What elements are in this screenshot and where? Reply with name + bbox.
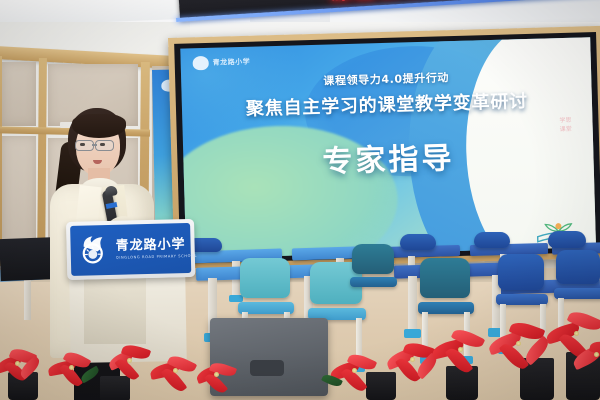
school-logo-icon	[193, 56, 209, 70]
podium-sign: 青龙路小学 QINGLONG ROAD PRIMARY SCHOOL	[66, 219, 195, 280]
slide-logo-text: 青龙路小学	[213, 57, 251, 68]
desk-foot	[229, 295, 243, 302]
slide-side-text: 学思课堂	[558, 116, 572, 134]
screen-bezel: 青龙路小学 课程领导力4.0提升行动 聚焦自主学习的课堂教学变革研讨 专家指导 …	[174, 32, 600, 264]
slide-school-logo: 青龙路小学	[193, 55, 251, 71]
table-leg	[24, 278, 31, 320]
photograph-scene: 课程领导力4.0提升行动 青龙路小学 课程领导力4.0提升行动 聚焦自主学习的课…	[0, 0, 600, 400]
podium-cloth	[84, 278, 146, 344]
desk-foot	[404, 329, 421, 338]
presenter-fringe	[72, 114, 126, 138]
equipment-case-handle	[250, 360, 284, 376]
eyeglasses-bridge	[92, 144, 97, 146]
equipment-case	[210, 318, 328, 396]
podium-school-name-en: QINGLONG ROAD PRIMARY SCHOOL	[116, 254, 197, 260]
flower-pot	[366, 372, 396, 400]
desk-leg	[408, 276, 417, 332]
eyeglasses-icon	[95, 140, 114, 151]
presentation-slide: 青龙路小学 课程领导力4.0提升行动 聚焦自主学习的课堂教学变革研讨 专家指导 …	[180, 37, 596, 258]
school-logo-icon	[77, 233, 110, 268]
flower-pot	[100, 376, 130, 400]
podium-sign-face: 青龙路小学 QINGLONG ROAD PRIMARY SCHOOL	[70, 223, 191, 276]
wall-panel	[2, 62, 36, 126]
podium-school-name-cn: 青龙路小学	[115, 238, 196, 254]
projection-screen-frame: 青龙路小学 课程领导力4.0提升行动 聚焦自主学习的课堂教学变革研讨 专家指导 …	[168, 26, 600, 270]
